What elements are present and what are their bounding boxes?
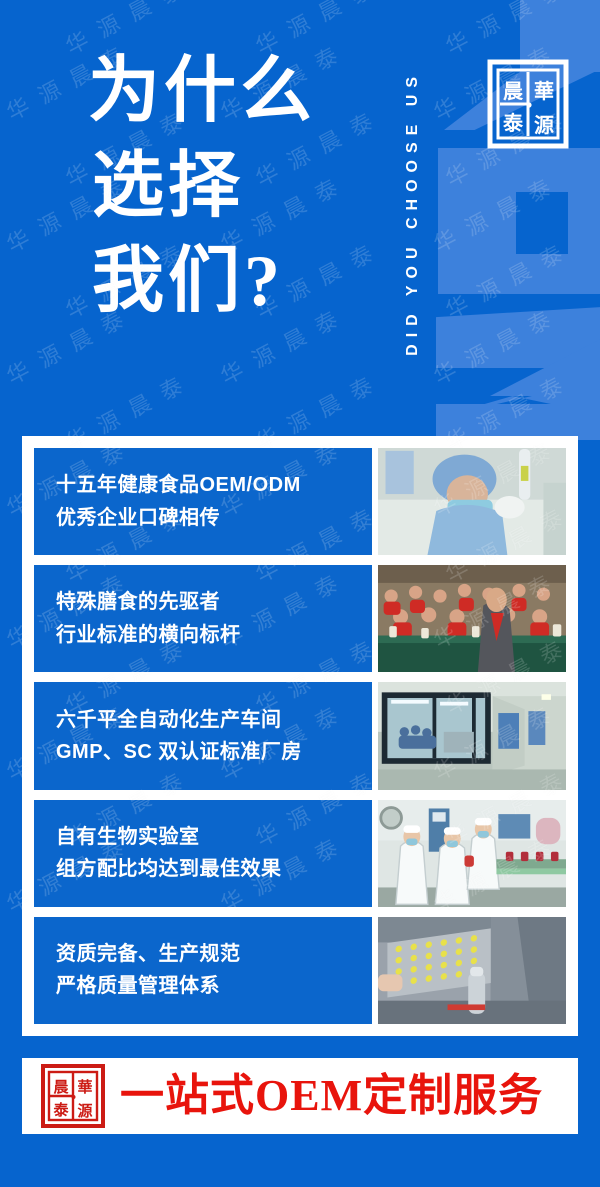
brand-seal-logo-red: 晨 泰 華 源: [40, 1063, 106, 1129]
list-item[interactable]: 特殊膳食的先驱者 行业标准的横向标杆: [34, 565, 566, 672]
svg-text:源: 源: [534, 114, 554, 137]
poster-root: 为什么 选择 我们? DID YOU CHOOSE US 晨 泰 華 源 十五年…: [0, 0, 600, 1187]
svg-text:華: 華: [534, 80, 554, 103]
list-item[interactable]: 六千平全自动化生产车间 GMP、SC 双认证标准厂房: [34, 682, 566, 789]
feature-line-2: GMP、SC 双认证标准厂房: [56, 736, 350, 768]
brand-seal-logo: 晨 泰 華 源: [486, 56, 570, 152]
list-item[interactable]: 资质完备、生产规范 严格质量管理体系: [34, 917, 566, 1024]
feature-photo: [378, 917, 566, 1024]
feature-photo: [378, 800, 566, 907]
watermark-text: 华 源 晨 泰: [439, 0, 571, 61]
feature-line-1: 自有生物实验室: [56, 821, 350, 853]
headline-line-2: 选择: [88, 139, 316, 234]
list-item[interactable]: 十五年健康食品OEM/ODM 优秀企业口碑相传: [34, 448, 566, 555]
svg-text:華: 華: [77, 1078, 92, 1096]
vertical-english-tagline: DID YOU CHOOSE US: [404, 18, 422, 408]
svg-text:晨: 晨: [53, 1078, 69, 1096]
svg-text:晨: 晨: [503, 80, 524, 103]
cta-text: 一站式OEM定制服务: [120, 1074, 543, 1118]
feature-text-block: 自有生物实验室 组方配比均达到最佳效果: [34, 800, 372, 907]
feature-photo: [378, 565, 566, 672]
feature-line-2: 行业标准的横向标杆: [56, 619, 350, 651]
headline-line-3: 我们?: [88, 234, 316, 329]
watermark-text: 华 源 晨 泰: [427, 169, 559, 259]
feature-line-1: 特殊膳食的先驱者: [56, 586, 350, 618]
feature-text-block: 特殊膳食的先驱者 行业标准的横向标杆: [34, 565, 372, 672]
feature-list: 十五年健康食品OEM/ODM 优秀企业口碑相传: [22, 436, 578, 1036]
svg-text:泰: 泰: [52, 1101, 69, 1119]
feature-line-2: 严格质量管理体系: [56, 970, 350, 1002]
watermark-text: 华 源 晨 泰: [427, 301, 559, 391]
feature-text-block: 六千平全自动化生产车间 GMP、SC 双认证标准厂房: [34, 682, 372, 789]
watermark-text: 华 源 晨 泰: [439, 235, 571, 325]
feature-line-1: 十五年健康食品OEM/ODM: [56, 469, 350, 501]
svg-text:源: 源: [77, 1102, 92, 1120]
feature-photo: [378, 682, 566, 789]
headline-line-1: 为什么: [88, 44, 316, 139]
feature-photo: [378, 448, 566, 555]
feature-line-1: 资质完备、生产规范: [56, 938, 350, 970]
page-title: 为什么 选择 我们?: [88, 44, 316, 329]
feature-text-block: 资质完备、生产规范 严格质量管理体系: [34, 917, 372, 1024]
svg-text:泰: 泰: [502, 111, 524, 135]
vertical-english-text: DID YOU CHOOSE US: [404, 70, 422, 356]
feature-line-2: 优秀企业口碑相传: [56, 502, 350, 534]
feature-text-block: 十五年健康食品OEM/ODM 优秀企业口碑相传: [34, 448, 372, 555]
list-item[interactable]: 自有生物实验室 组方配比均达到最佳效果: [34, 800, 566, 907]
bottom-cta-banner[interactable]: 晨 泰 華 源 一站式OEM定制服务: [22, 1058, 578, 1134]
feature-line-2: 组方配比均达到最佳效果: [56, 853, 350, 885]
feature-line-1: 六千平全自动化生产车间: [56, 704, 350, 736]
